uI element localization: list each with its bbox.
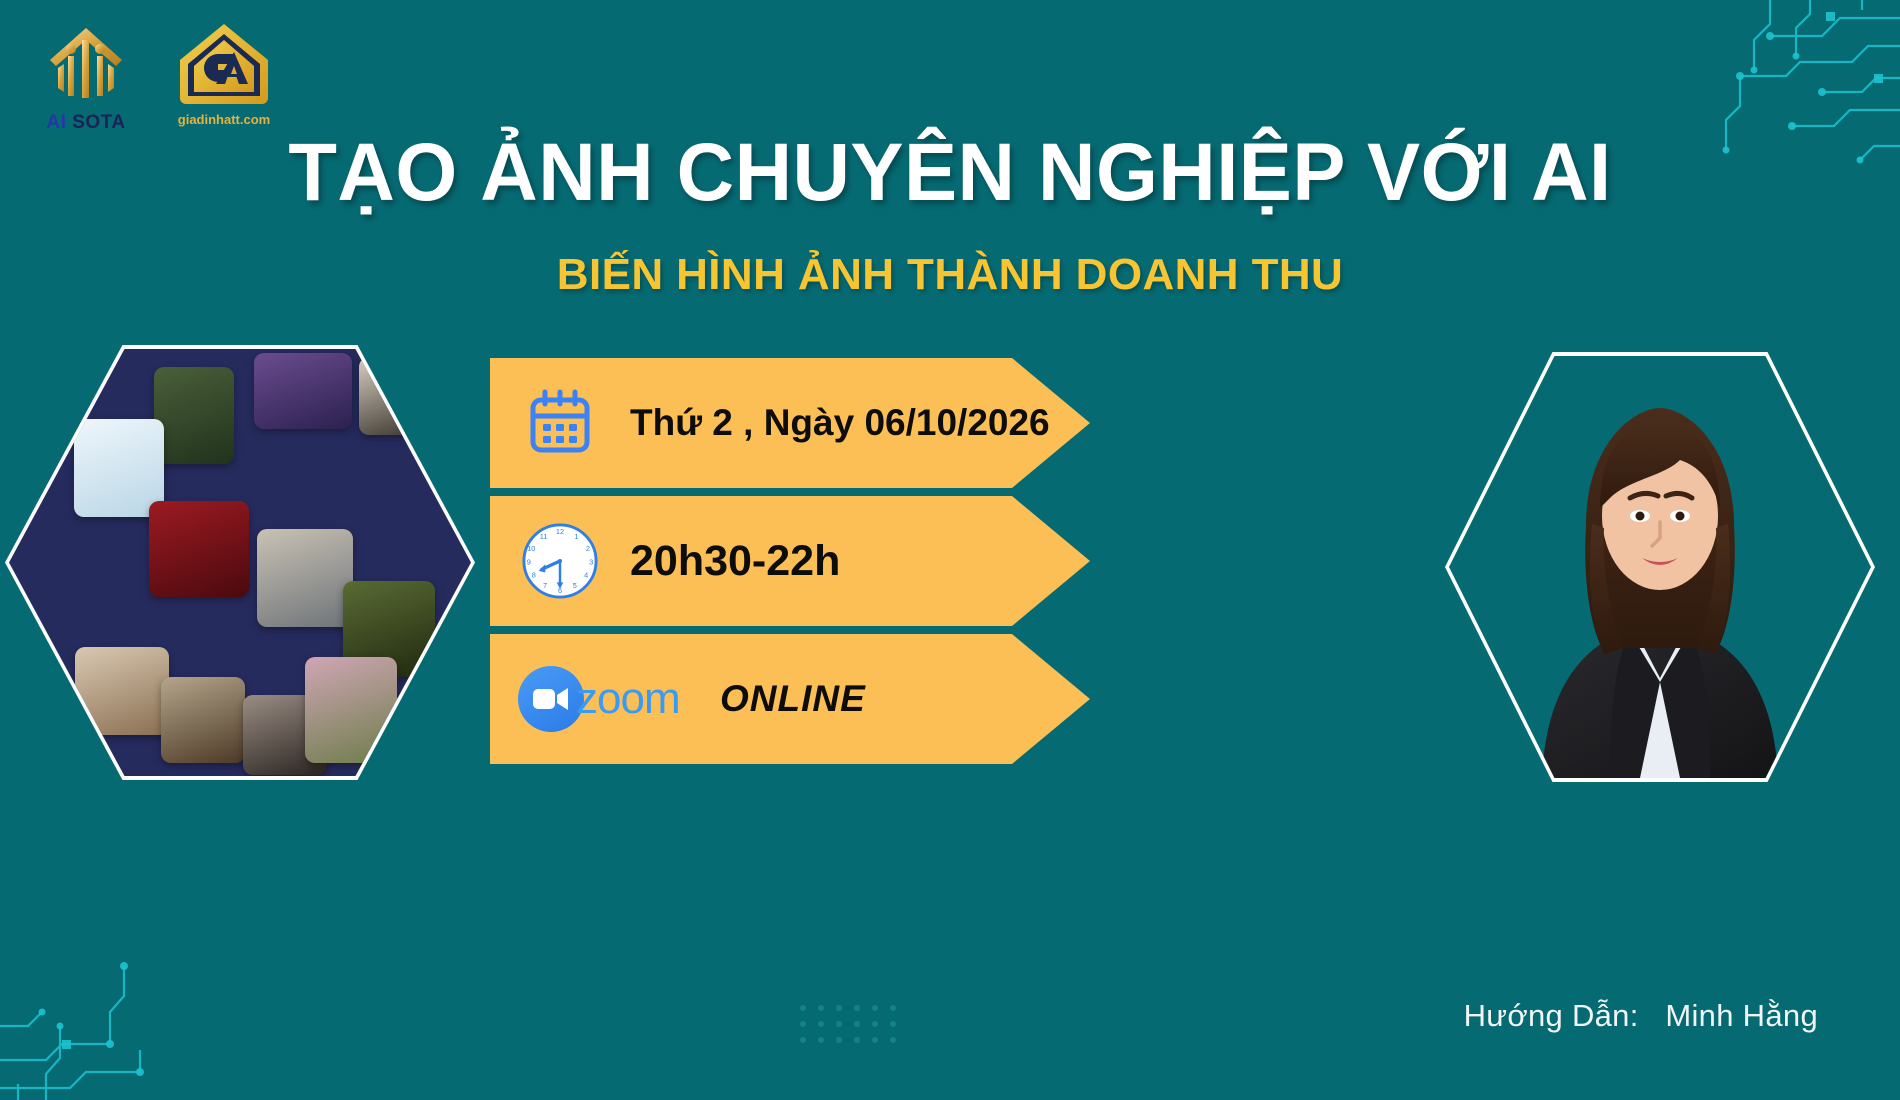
handbag-city-thumb xyxy=(254,353,352,429)
event-time-row: 12 1 2 3 4 5 6 7 8 9 10 11 xyxy=(490,496,1090,626)
event-platform-row: zoom ONLINE xyxy=(490,634,1090,764)
collage-hexagon-body xyxy=(9,349,471,776)
zoom-logo-icon: zoom xyxy=(490,666,720,732)
ai-sota-caption: AI SOTA xyxy=(46,112,125,134)
serum-bottle-thumb xyxy=(74,419,164,517)
presenter-hexagon-body xyxy=(1449,356,1871,778)
svg-text:4: 4 xyxy=(584,570,588,579)
svg-text:1: 1 xyxy=(574,532,578,541)
ai-sota-caption-sota: SOTA xyxy=(66,112,125,133)
image-collage-hexagon xyxy=(5,345,475,780)
svg-text:7: 7 xyxy=(543,581,547,590)
logo-group: AI SOTA giadinhatt.com xyxy=(40,18,274,134)
event-info-stack: Thứ 2 , Ngày 06/10/2026 12 1 2 3 4 5 6 7 xyxy=(490,358,1090,772)
circuit-decoration-bottom-left xyxy=(0,860,300,1100)
boots-thumb xyxy=(161,677,245,763)
gia-dinh-hatt-caption: giadinhatt.com xyxy=(178,112,270,127)
svg-text:9: 9 xyxy=(527,557,531,566)
event-platform-label: ONLINE xyxy=(720,678,866,720)
svg-text:2: 2 xyxy=(586,544,590,553)
presenter-hexagon xyxy=(1445,352,1875,782)
presenter-credit: Hướng Dẫn: Minh Hằng xyxy=(1464,998,1818,1034)
office-desk-thumb xyxy=(443,411,471,493)
svg-text:8: 8 xyxy=(532,570,536,579)
bird-artwork-thumb xyxy=(359,357,451,435)
presenter-credit-prefix: Hướng Dẫn: xyxy=(1464,998,1639,1033)
perfume-red-thumb xyxy=(149,501,249,597)
clock-icon: 12 1 2 3 4 5 6 7 8 9 10 11 xyxy=(490,520,630,602)
ai-sota-logo: AI SOTA xyxy=(40,18,132,134)
page-title: TẠO ẢNH CHUYÊN NGHIỆP VỚI AI xyxy=(29,132,1872,214)
event-banner: AI SOTA giadinhatt.com TẠO ẢNH CHUYÊ xyxy=(0,0,1900,1100)
svg-text:12: 12 xyxy=(556,527,564,536)
svg-text:10: 10 xyxy=(527,544,535,553)
gia-dinh-hatt-logo: giadinhatt.com xyxy=(174,18,274,127)
forest-car-thumb xyxy=(154,367,234,464)
presenter-portrait xyxy=(1490,356,1830,778)
calendar-icon xyxy=(490,386,630,460)
woman-flowers-thumb xyxy=(305,657,397,763)
svg-text:3: 3 xyxy=(589,557,593,566)
dot-grid-bottom-center xyxy=(800,1005,900,1050)
event-time-label: 20h30-22h xyxy=(630,537,840,586)
ai-sota-mark-icon xyxy=(40,18,132,110)
zoom-wordmark: zoom xyxy=(576,674,680,724)
man-car-portrait-thumb xyxy=(257,529,353,627)
presenter-credit-name: Minh Hằng xyxy=(1665,998,1818,1033)
ai-sota-caption-ai: AI xyxy=(46,112,66,133)
event-date-label: Thứ 2 , Ngày 06/10/2026 xyxy=(630,402,1050,444)
event-date-row: Thứ 2 , Ngày 06/10/2026 xyxy=(490,358,1090,488)
svg-text:11: 11 xyxy=(540,532,548,541)
interior-lamp-thumb xyxy=(427,645,471,741)
zoom-camera-icon xyxy=(518,666,584,732)
page-subtitle: BIẾN HÌNH ẢNH THÀNH DOANH THU xyxy=(0,250,1900,300)
svg-text:5: 5 xyxy=(573,581,577,590)
gia-dinh-house-mark-icon xyxy=(174,18,274,110)
home-office-thumb xyxy=(75,647,169,735)
